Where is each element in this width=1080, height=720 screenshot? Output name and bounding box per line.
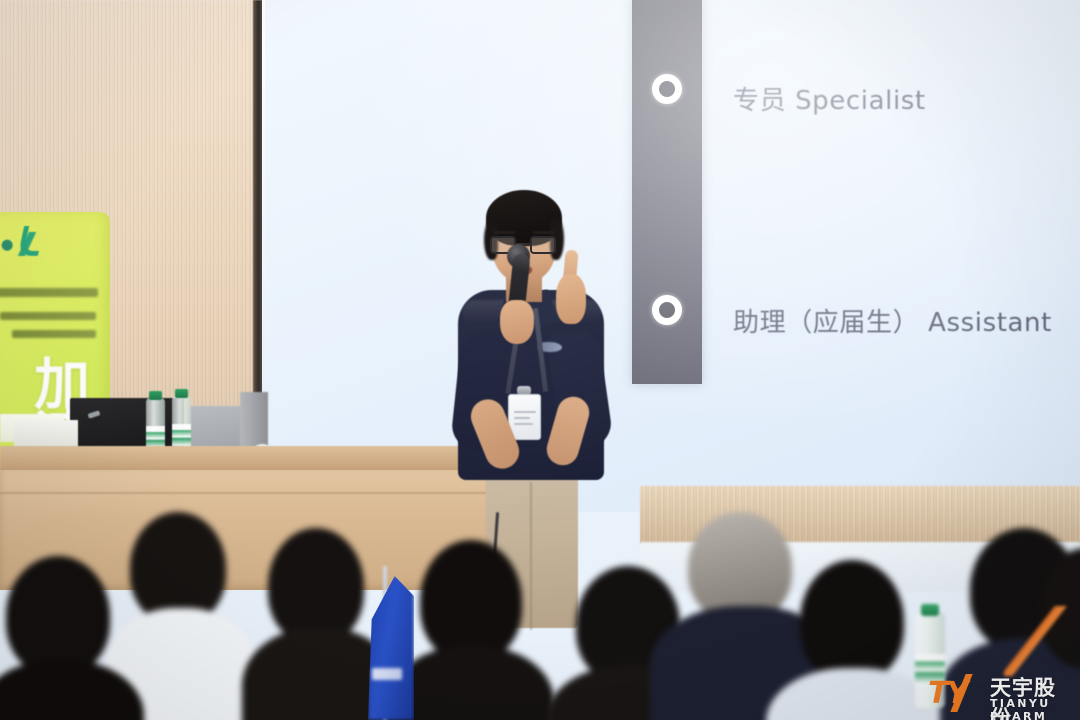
bottle-label [146, 426, 165, 448]
badge-text-line [514, 423, 533, 425]
bottle-cap [175, 389, 188, 398]
speaker-right-hand [556, 274, 586, 324]
bottle-label [172, 424, 191, 446]
bottle-cap [149, 391, 162, 400]
audience-member [782, 560, 922, 720]
ty-monogram-icon: TY [928, 676, 986, 710]
audience-lanyard [1004, 606, 1068, 676]
watermark-name-en: TIANYU PHARM [990, 697, 1074, 720]
eyebrow-left [493, 231, 515, 234]
bullet-ring-icon [652, 74, 682, 104]
banner-text-line [12, 330, 96, 338]
speaker-figure [440, 182, 620, 582]
laptop-logo-icon [88, 410, 101, 418]
banner-text-line [0, 312, 96, 320]
audience-shoulders [390, 646, 554, 720]
slide-bullet-label-assistant: 助理（应届生） Assistant [733, 302, 1052, 339]
audience-head [800, 560, 904, 682]
glasses-lens-right [530, 236, 556, 254]
audience-head [268, 528, 364, 644]
audience-member [118, 512, 244, 720]
presentation-scene: 专员 Specialist 助理（应届生） Assistant 根据个人 加速 [0, 0, 1080, 720]
slide-accent-column [632, 0, 702, 384]
flag-text-block [372, 668, 402, 680]
banner-text-line [0, 288, 98, 297]
speaker-left-hand [500, 300, 534, 344]
badge-text-line [514, 411, 536, 413]
audience-head [420, 540, 522, 662]
badge-text-line [514, 417, 530, 419]
audience-member [404, 540, 540, 720]
eyebrow-right [533, 231, 555, 234]
audience-member [0, 556, 130, 720]
bullet-ring-icon [652, 295, 682, 325]
slide-bullet-label-specialist: 专员 Specialist [733, 80, 926, 117]
audience-shoulders [0, 660, 144, 720]
watermark-logo: TY 天宇股份 TIANYU PHARM [928, 672, 1074, 714]
audience-head [6, 556, 110, 676]
podium-seam [0, 492, 492, 494]
audience-member [258, 528, 382, 720]
bottle-cap [921, 604, 939, 616]
